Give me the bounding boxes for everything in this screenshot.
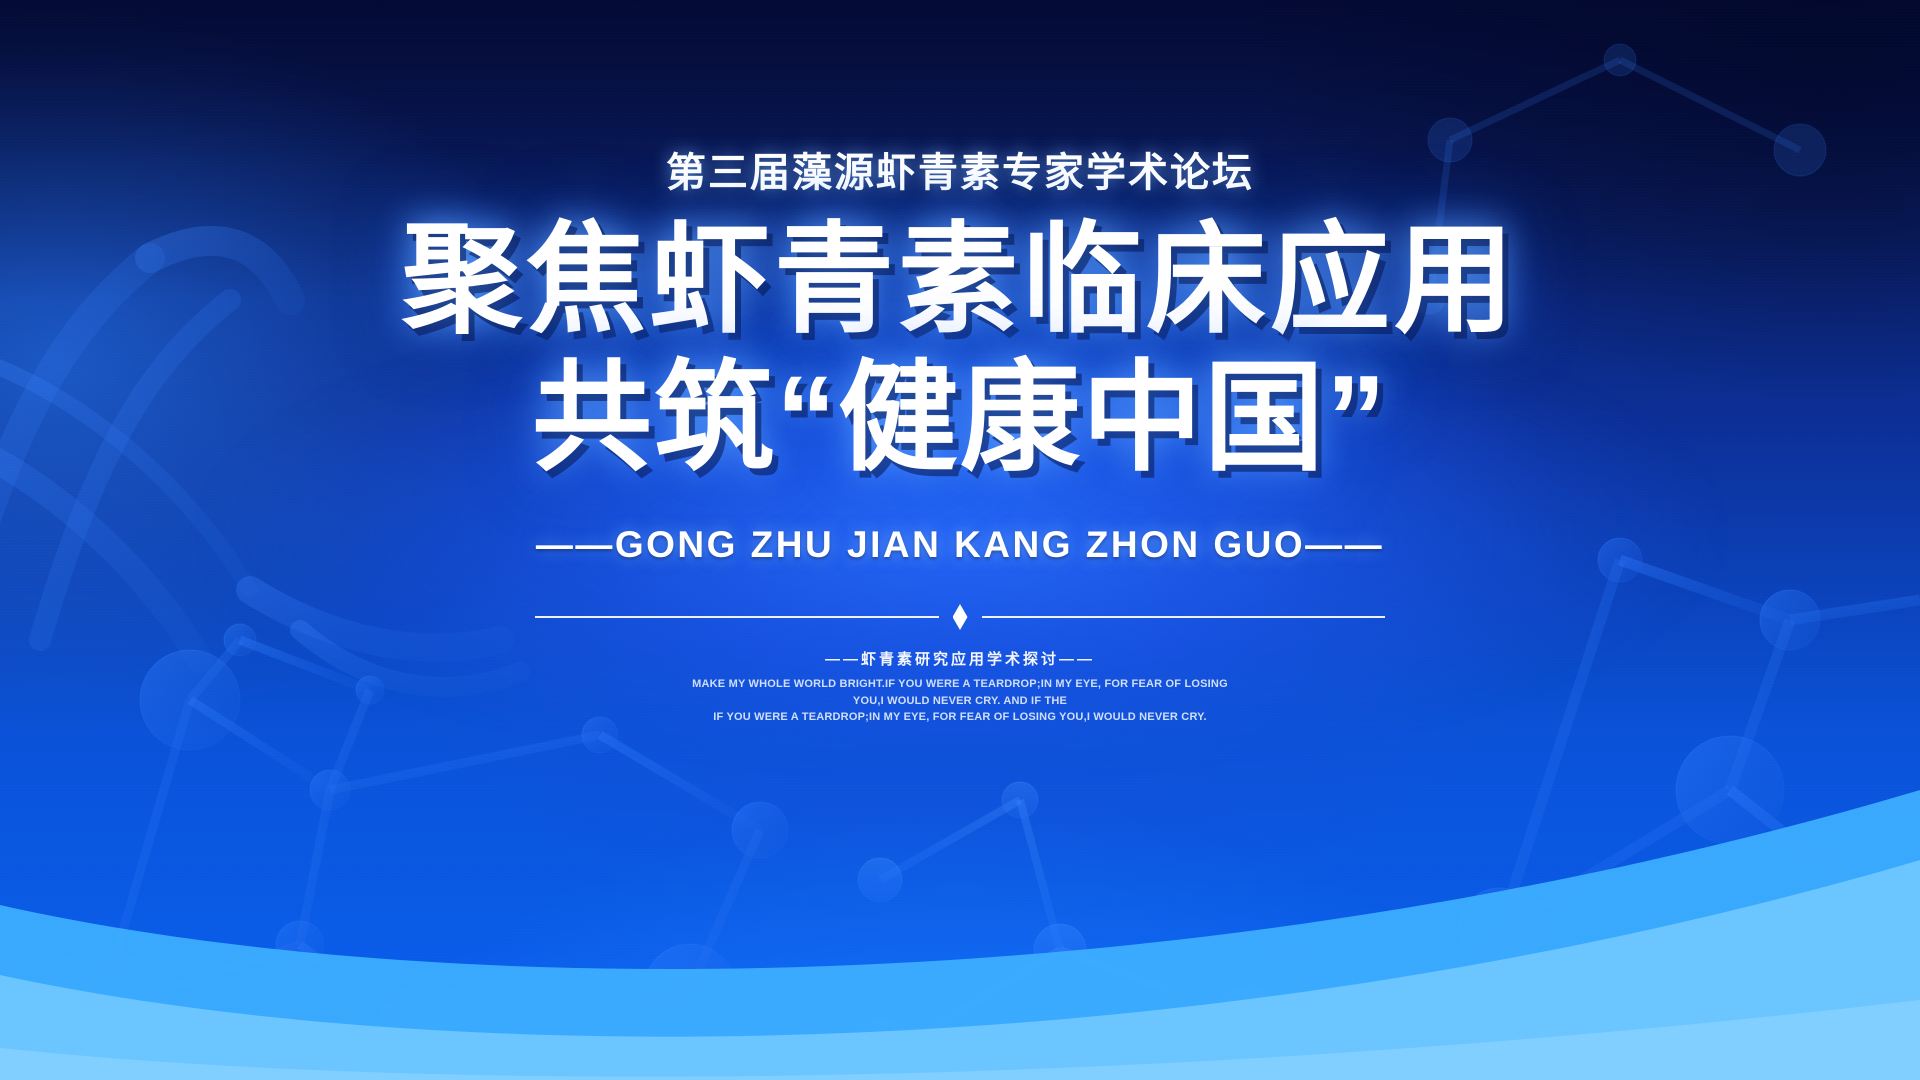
divider <box>535 604 1385 630</box>
main-title-line-1: 聚焦虾青素临床应用 <box>402 220 1518 340</box>
main-title-block: 聚焦虾青素临床应用 共筑“健康中国” <box>402 220 1518 478</box>
diamond-icon <box>953 604 968 630</box>
divider-rule-left <box>535 616 939 618</box>
pinyin-subtitle: ——GONG ZHU JIAN KANG ZHON GUO—— <box>536 524 1384 566</box>
main-title-line-2: 共筑“健康中国” <box>402 358 1518 478</box>
footnote-english: MAKE MY WHOLE WORLD BRIGHT.IF YOU WERE A… <box>680 676 1240 726</box>
conference-poster: 第三届藻源虾青素专家学术论坛 聚焦虾青素临床应用 共筑“健康中国” ——GONG… <box>0 0 1920 1080</box>
event-eyebrow-title: 第三届藻源虾青素专家学术论坛 <box>666 140 1254 198</box>
poster-content: 第三届藻源虾青素专家学术论坛 聚焦虾青素临床应用 共筑“健康中国” ——GONG… <box>0 0 1920 1080</box>
footnote-english-line-1: MAKE MY WHOLE WORLD BRIGHT.IF YOU WERE A… <box>680 676 1240 709</box>
divider-rule-right <box>982 616 1386 618</box>
footnote-english-line-2: IF YOU WERE A TEARDROP;IN MY EYE, FOR FE… <box>680 709 1240 726</box>
footnote-chinese: ——虾青素研究应用学术探讨—— <box>825 648 1095 669</box>
